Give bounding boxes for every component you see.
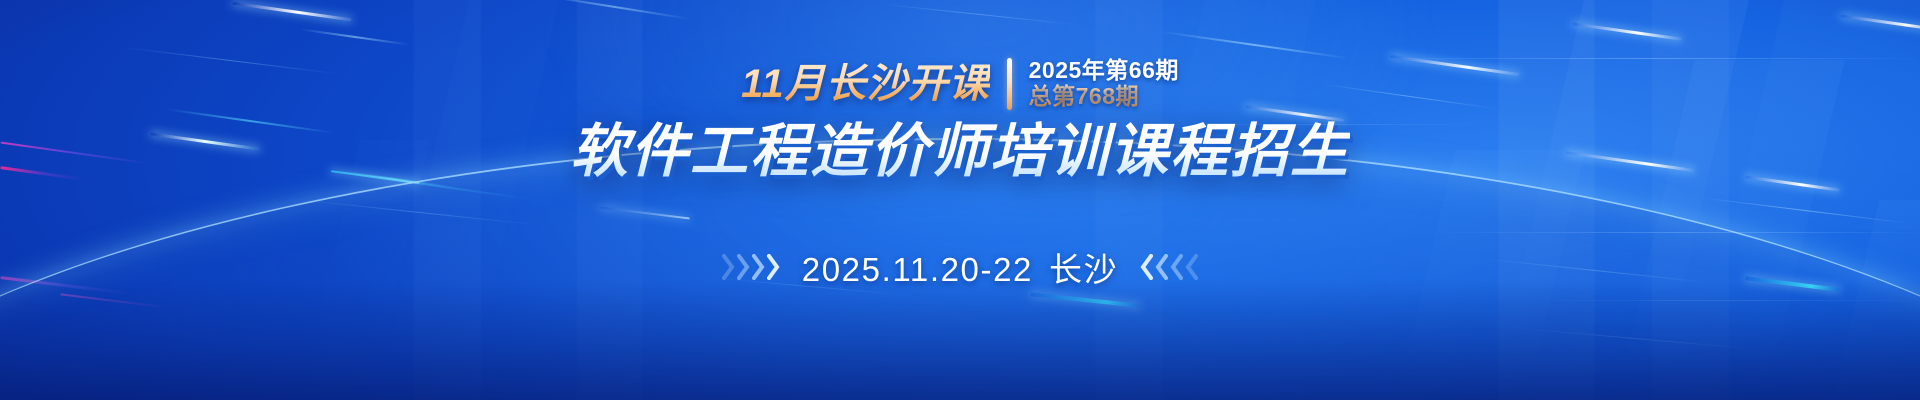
issue-year-label: 2025年第66期 [1029,58,1179,84]
chevron-left-icon [1170,254,1183,280]
chevron-right-group [722,254,780,280]
vertical-divider [1007,58,1012,110]
chevron-left-icon [1155,254,1168,280]
event-date: 2025.11.20-22 [802,251,1033,288]
date-row: 2025.11.20-22长沙 [722,243,1198,291]
chevron-right-icon [767,254,780,280]
chevron-left-icon [1140,254,1153,280]
page-title: 软件工程造价师培训课程招生 [570,118,1350,190]
promo-banner: 11月长沙开课 2025年第66期 总第768期 软件工程造价师培训课程招生 2… [0,0,1920,400]
chevron-right-icon [737,254,750,280]
banner-content: 11月长沙开课 2025年第66期 总第768期 软件工程造价师培训课程招生 2… [0,0,1920,400]
chevron-left-group [1140,254,1198,280]
kicker-row: 11月长沙开课 2025年第66期 总第768期 [741,58,1179,110]
issue-info: 2025年第66期 总第768期 [1029,58,1179,110]
issue-total-label: 总第768期 [1029,84,1139,110]
chevron-right-icon [722,254,735,280]
chevron-right-icon [752,254,765,280]
event-date-location: 2025.11.20-22长沙 [802,243,1118,291]
event-city: 长沙 [1049,251,1118,288]
chevron-left-icon [1185,254,1198,280]
kicker-text: 11月长沙开课 [741,62,990,106]
